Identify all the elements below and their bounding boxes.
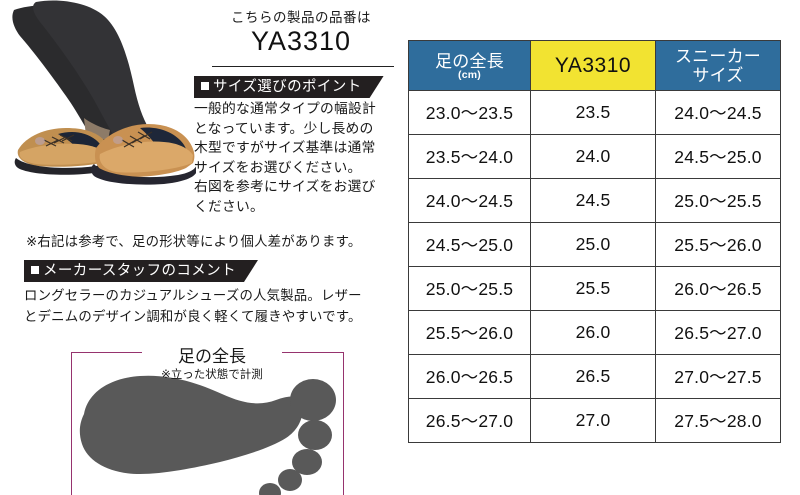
cell-ya3310: 27.0	[531, 399, 656, 443]
section-body-maker-comment: ロングセラーのカジュアルシューズの人気製品。レザー とデニムのデザイン調和が良く…	[24, 285, 412, 327]
bullet-square-icon	[201, 82, 209, 90]
table-row: 23.5〜24.024.024.5〜25.0	[409, 135, 781, 179]
section-body-size-point: 一般的な通常タイプの幅設計 となっています。少し長めの 木型ですがサイズ基準は通…	[194, 99, 406, 217]
cell-sneaker: 26.0〜26.5	[656, 267, 781, 311]
headline-lead: こちらの製品の品番は	[196, 6, 406, 26]
cell-sneaker: 25.0〜25.5	[656, 179, 781, 223]
header-sneaker-size-line2: サイズ	[656, 66, 780, 85]
reference-note: ※右記は参考で、足の形状等により個人差があります。	[26, 232, 406, 252]
header-sneaker-size: スニーカー サイズ	[656, 41, 781, 91]
foot-diagram-subtitle: ※立った状態で計測	[132, 366, 292, 382]
section-banner-size-point: サイズ選びのポイント	[194, 76, 384, 98]
cell-sneaker: 24.0〜24.5	[656, 91, 781, 135]
product-photo-shoes	[0, 0, 196, 228]
table-row: 25.0〜25.525.526.0〜26.5	[409, 267, 781, 311]
size-guide-page: こちらの製品の品番は YA3310 サイズ選びのポイント 一般的な通常タイプの幅…	[0, 0, 800, 495]
table-header-row: 足の全長 (cm) YA3310 スニーカー サイズ	[409, 41, 781, 91]
table-row: 24.0〜24.524.525.0〜25.5	[409, 179, 781, 223]
header-sneaker-size-line1: スニーカー	[656, 47, 780, 66]
header-foot-length-label: 足の全長	[435, 52, 504, 71]
cell-length: 26.5〜27.0	[409, 399, 531, 443]
cell-ya3310: 25.5	[531, 267, 656, 311]
cell-sneaker: 24.5〜25.0	[656, 135, 781, 179]
cell-ya3310: 25.0	[531, 223, 656, 267]
cell-length: 25.5〜26.0	[409, 311, 531, 355]
cell-length: 23.5〜24.0	[409, 135, 531, 179]
cell-length: 24.5〜25.0	[409, 223, 531, 267]
table-row: 23.0〜23.523.524.0〜24.5	[409, 91, 781, 135]
section-banner-maker-comment: メーカースタッフのコメント	[24, 260, 258, 282]
foot-diagram-title: 足の全長	[142, 342, 282, 367]
table-row: 24.5〜25.025.025.5〜26.0	[409, 223, 781, 267]
cell-length: 25.0〜25.5	[409, 267, 531, 311]
cell-ya3310: 24.0	[531, 135, 656, 179]
cell-ya3310: 23.5	[531, 91, 656, 135]
size-conversion-table: 足の全長 (cm) YA3310 スニーカー サイズ 23.0〜23.523.5…	[408, 40, 781, 443]
header-foot-length-unit: (cm)	[409, 70, 530, 80]
header-product-code: YA3310	[531, 41, 656, 91]
cell-sneaker: 26.5〜27.0	[656, 311, 781, 355]
cell-sneaker: 27.5〜28.0	[656, 399, 781, 443]
bullet-square-icon	[31, 266, 39, 274]
cell-ya3310: 26.5	[531, 355, 656, 399]
cell-length: 26.0〜26.5	[409, 355, 531, 399]
cell-length: 24.0〜24.5	[409, 179, 531, 223]
cell-ya3310: 24.5	[531, 179, 656, 223]
cell-sneaker: 25.5〜26.0	[656, 223, 781, 267]
section-banner-size-point-label: サイズ選びのポイント	[213, 79, 362, 95]
table-row: 25.5〜26.026.026.5〜27.0	[409, 311, 781, 355]
product-code: YA3310	[196, 26, 406, 57]
cell-sneaker: 27.0〜27.5	[656, 355, 781, 399]
cell-length: 23.0〜23.5	[409, 91, 531, 135]
table-row: 26.5〜27.027.027.5〜28.0	[409, 399, 781, 443]
headline-divider	[212, 66, 394, 67]
header-foot-length: 足の全長 (cm)	[409, 41, 531, 91]
cell-ya3310: 26.0	[531, 311, 656, 355]
section-banner-maker-comment-label: メーカースタッフのコメント	[43, 263, 236, 279]
table-row: 26.0〜26.526.527.0〜27.5	[409, 355, 781, 399]
